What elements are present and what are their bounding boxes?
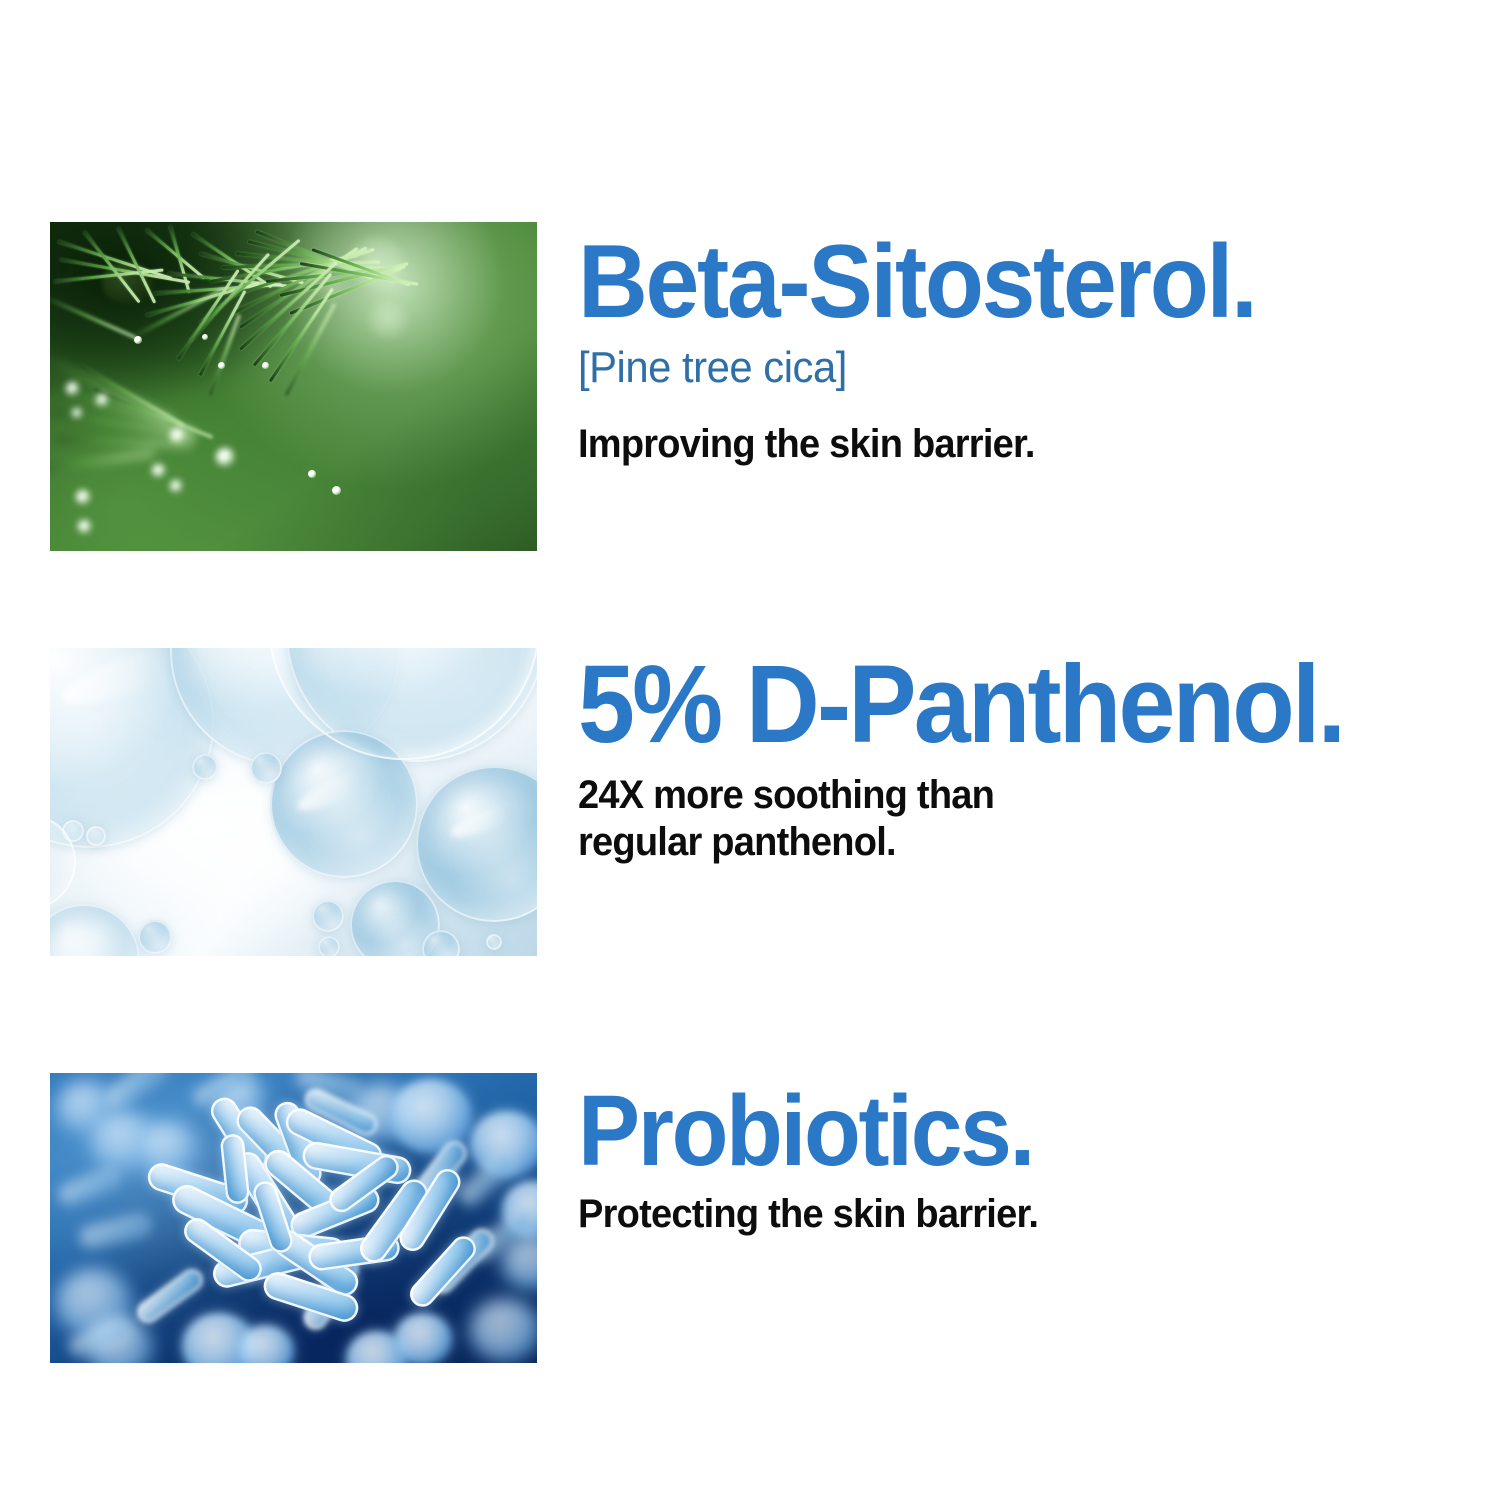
section-d-panthenol: 5% D-Panthenol. 24X more soothing than r… (0, 648, 1500, 956)
water-bubbles-photo (50, 648, 537, 956)
bubble (192, 754, 218, 780)
section-benefit: Protecting the skin barrier. (578, 1191, 1038, 1238)
section-benefit: Improving the skin barrier. (578, 421, 1035, 468)
bubble (86, 826, 106, 846)
cocci (394, 1313, 452, 1363)
benefit-line: regular panthenol. (578, 819, 994, 866)
section-probiotics: Probiotics. Protecting the skin barrier. (0, 1073, 1500, 1363)
probiotic-bacteria-photo (50, 1073, 537, 1363)
section-heading: Beta-Sitosterol. (578, 230, 1256, 334)
section-beta-sitosterol: Beta-Sitosterol. [Pine tree cica] Improv… (0, 222, 1500, 552)
bubble (318, 936, 340, 956)
ingredient-benefits-page: Beta-Sitosterol. [Pine tree cica] Improv… (0, 0, 1500, 1500)
section-subtitle: [Pine tree cica] (578, 345, 847, 391)
section-benefit: 24X more soothing than regular panthenol… (578, 772, 994, 866)
bubble (250, 752, 282, 784)
bubble (312, 900, 344, 932)
section-heading: Probiotics. (578, 1081, 1033, 1181)
bubble (486, 934, 502, 950)
benefit-line: 24X more soothing than (578, 772, 994, 819)
section-heading: 5% D-Panthenol. (578, 650, 1343, 760)
bubble (138, 920, 172, 954)
pine-tree-branch-photo (50, 222, 537, 551)
bokeh-light (368, 300, 408, 338)
cocci (470, 1299, 537, 1361)
